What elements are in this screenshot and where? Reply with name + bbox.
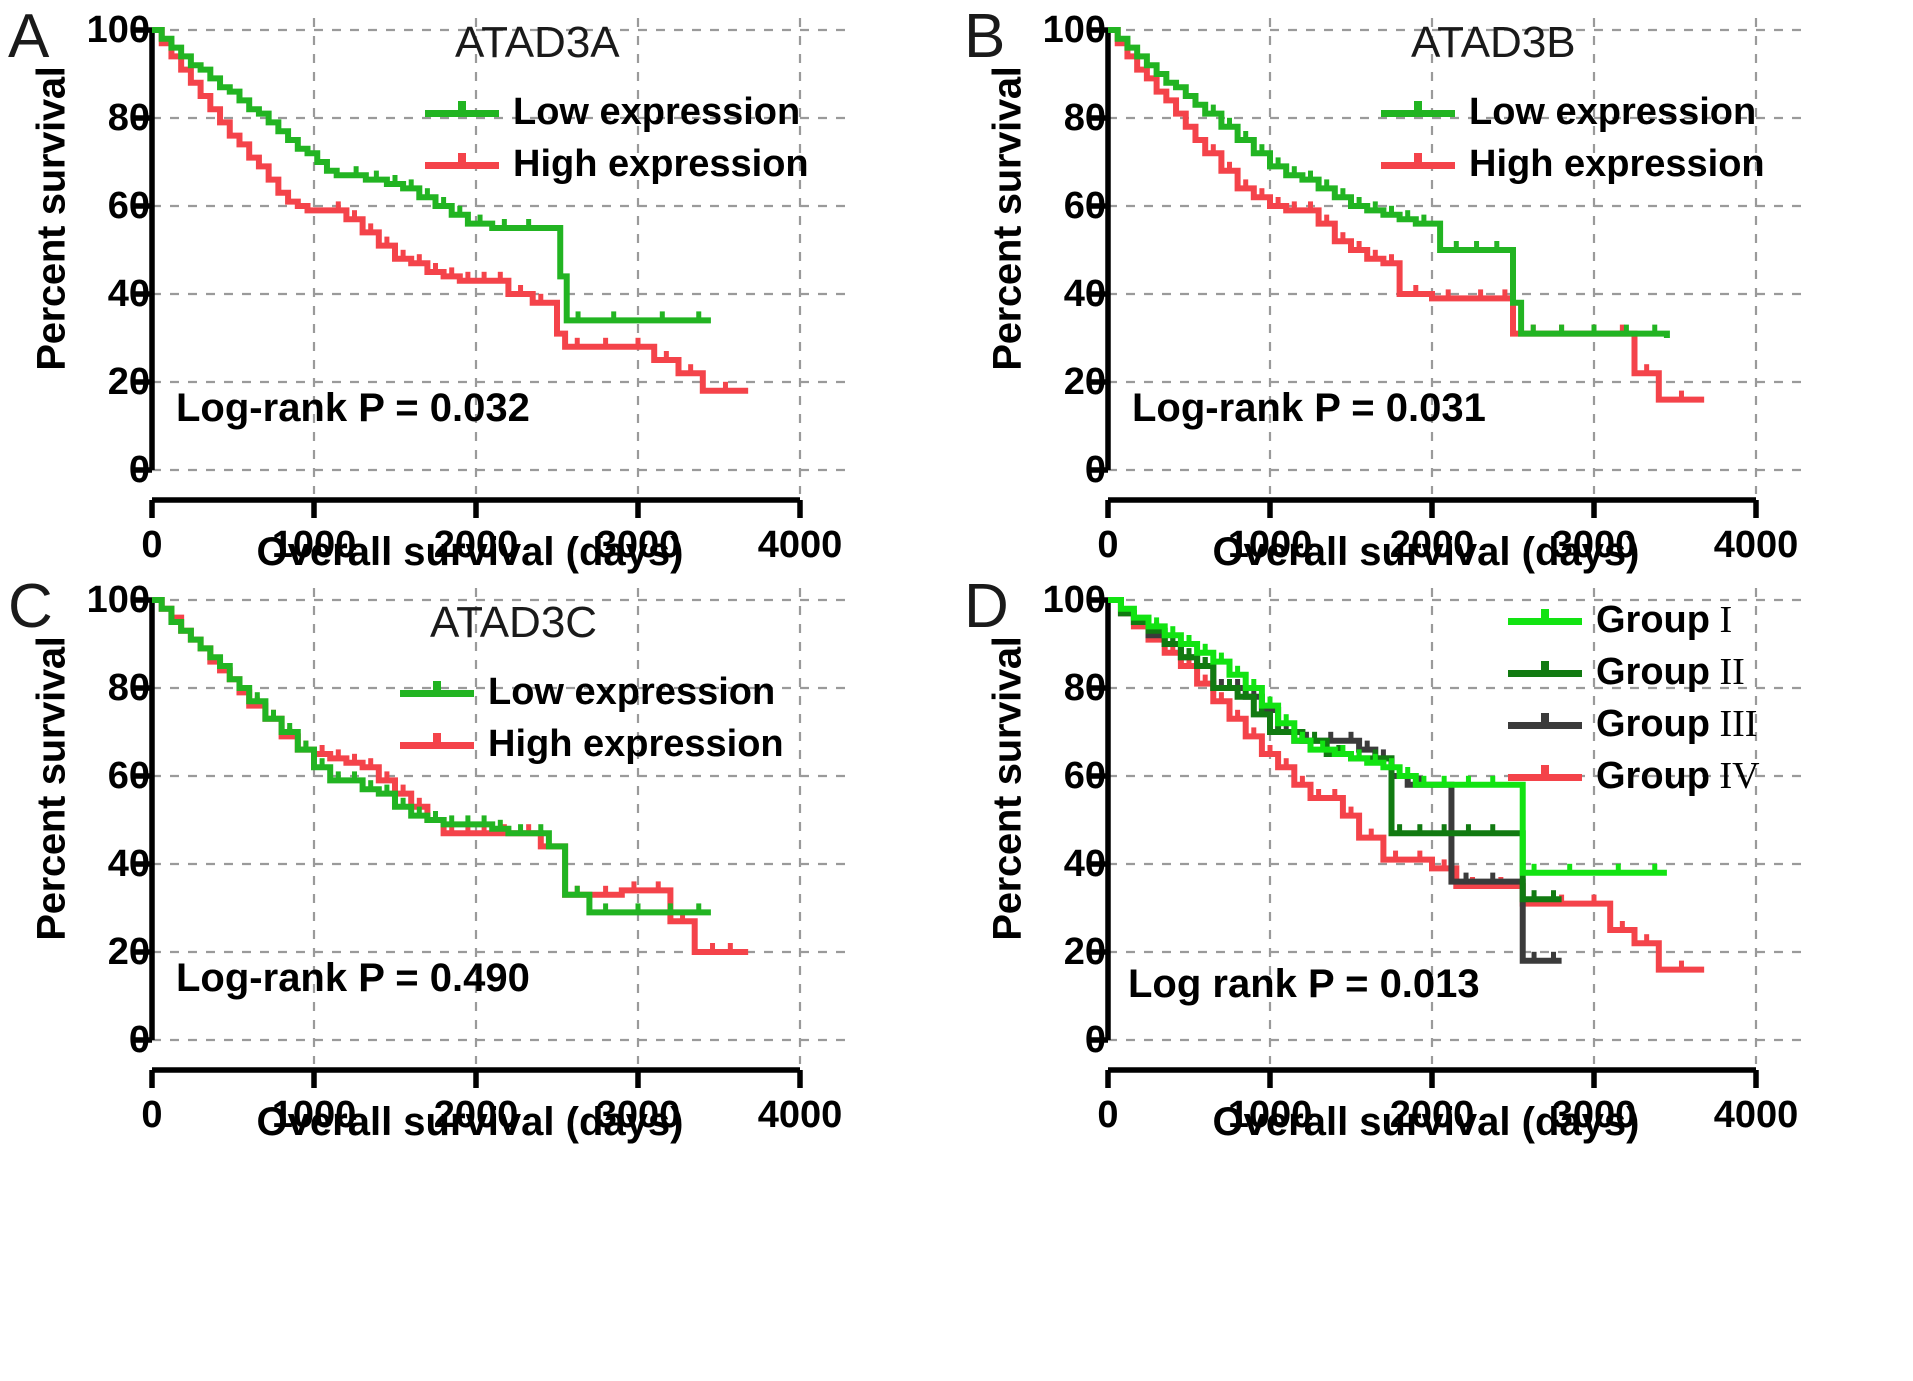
- x-tick-label: 0: [1097, 1094, 1118, 1137]
- legend-group-numeral: III: [1710, 703, 1757, 745]
- legend-item[interactable]: Group II: [1508, 646, 1760, 698]
- legend-item-label: High expression: [513, 143, 809, 186]
- legend-b: Low expressionHigh expression: [1381, 86, 1765, 190]
- legend-d: Group IGroup IIGroup IIIGroup IV: [1508, 594, 1760, 802]
- legend-item[interactable]: Group I: [1508, 594, 1760, 646]
- figure-kaplan-meier-panels: A Percent survival Overall survival (day…: [0, 0, 1913, 1381]
- legend-swatch-icon: [1381, 99, 1455, 125]
- x-tick-label: 0: [141, 524, 162, 567]
- x-tick-label: 1000: [1228, 1094, 1313, 1137]
- pvalue-a: Log-rank P = 0.032: [176, 386, 530, 431]
- x-tick-label: 4000: [758, 1094, 843, 1137]
- legend-item[interactable]: High expression: [400, 718, 784, 770]
- pvalue-d: Log rank P = 0.013: [1128, 962, 1480, 1007]
- x-tick-label: 3000: [1552, 524, 1637, 567]
- legend-swatch-icon: [1508, 659, 1582, 685]
- legend-item[interactable]: Group III: [1508, 698, 1760, 750]
- x-tick-label: 0: [141, 1094, 162, 1137]
- plot-area-d: [956, 570, 1912, 1260]
- x-tick-label: 2000: [434, 524, 519, 567]
- legend-c: Low expressionHigh expression: [400, 666, 784, 770]
- series-group: [152, 30, 748, 392]
- legend-item-label: Group II: [1596, 650, 1745, 694]
- legend-swatch-icon: [1508, 763, 1582, 789]
- legend-item-label: Low expression: [513, 91, 800, 134]
- legend-item-label: Low expression: [1469, 91, 1756, 134]
- legend-item[interactable]: High expression: [1381, 138, 1765, 190]
- legend-item-label: Group IV: [1596, 754, 1760, 798]
- x-tick-label: 0: [1097, 524, 1118, 567]
- legend-swatch-icon: [1381, 151, 1455, 177]
- plot-title-a: ATAD3A: [455, 18, 620, 68]
- x-tick-label: 3000: [1552, 1094, 1637, 1137]
- legend-item[interactable]: Group IV: [1508, 750, 1760, 802]
- x-tick-label: 1000: [272, 1094, 357, 1137]
- x-tick-label: 4000: [1714, 524, 1799, 567]
- legend-item-label: Low expression: [488, 671, 775, 714]
- x-tick-label: 2000: [434, 1094, 519, 1137]
- legend-swatch-icon: [400, 679, 474, 705]
- legend-swatch-icon: [1508, 607, 1582, 633]
- legend-item-label: High expression: [1469, 143, 1765, 186]
- legend-item-label: Group III: [1596, 702, 1757, 746]
- pvalue-b: Log-rank P = 0.031: [1132, 386, 1486, 431]
- panel-c: C Percent survival Overall survival (day…: [0, 570, 956, 1260]
- legend-item[interactable]: Low expression: [400, 666, 784, 718]
- x-tick-label: 3000: [596, 524, 681, 567]
- pvalue-c: Log-rank P = 0.490: [176, 956, 530, 1001]
- legend-item-label: High expression: [488, 723, 784, 766]
- legend-swatch-icon: [425, 151, 499, 177]
- panel-d: D Percent survival Overall survival (day…: [956, 570, 1912, 1260]
- legend-group-numeral: I: [1710, 599, 1732, 641]
- legend-a: Low expressionHigh expression: [425, 86, 809, 190]
- legend-item[interactable]: Low expression: [425, 86, 809, 138]
- plot-title-c: ATAD3C: [430, 598, 597, 648]
- x-tick-label: 1000: [1228, 524, 1313, 567]
- legend-item-label: Group I: [1596, 598, 1732, 642]
- legend-swatch-icon: [400, 731, 474, 757]
- legend-group-numeral: IV: [1710, 755, 1760, 797]
- x-tick-label: 3000: [596, 1094, 681, 1137]
- legend-item[interactable]: Low expression: [1381, 86, 1765, 138]
- x-tick-label: 1000: [272, 524, 357, 567]
- x-tick-label: 4000: [1714, 1094, 1799, 1137]
- x-tick-label: 4000: [758, 524, 843, 567]
- legend-swatch-icon: [425, 99, 499, 125]
- legend-item[interactable]: High expression: [425, 138, 809, 190]
- legend-group-numeral: II: [1710, 651, 1745, 693]
- legend-swatch-icon: [1508, 711, 1582, 737]
- plot-title-b: ATAD3B: [1411, 18, 1576, 68]
- x-tick-label: 2000: [1390, 524, 1475, 567]
- x-tick-label: 2000: [1390, 1094, 1475, 1137]
